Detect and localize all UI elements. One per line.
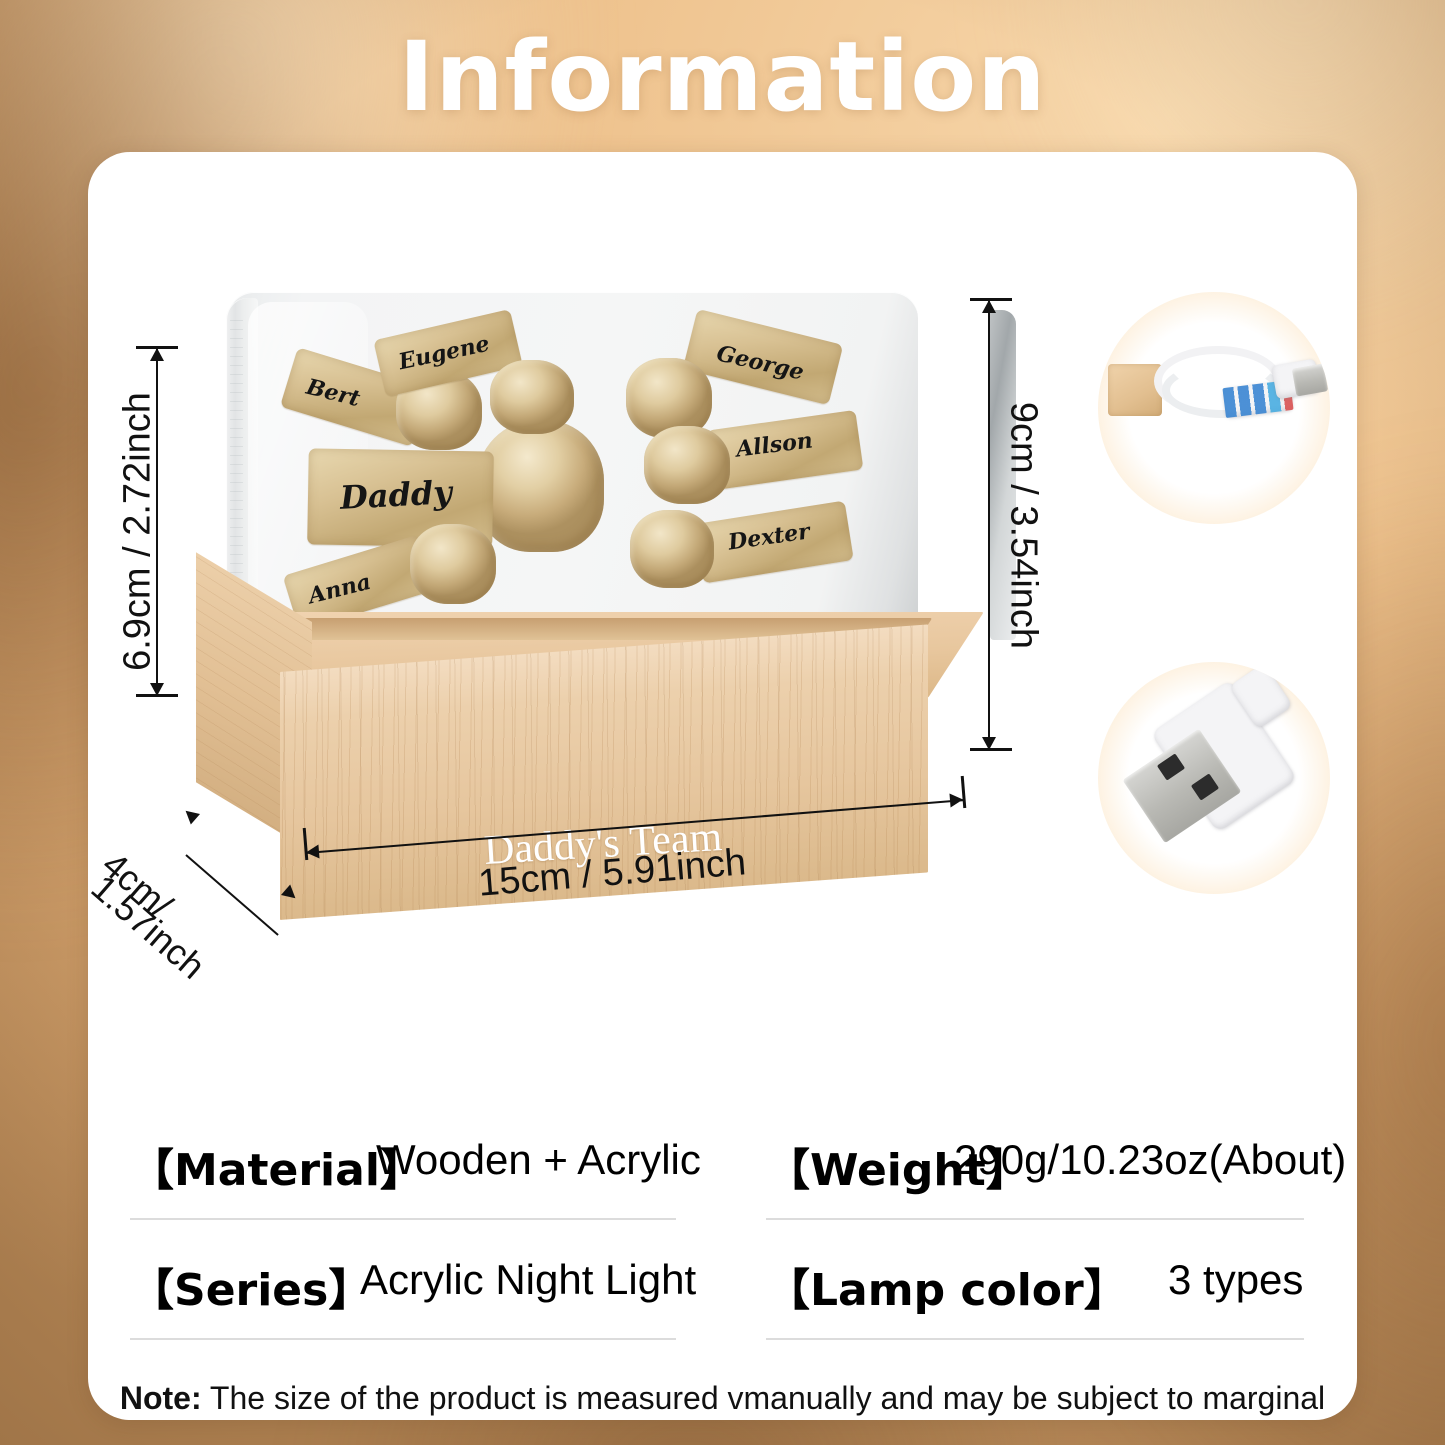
usb-port-badge: USB port [1098, 662, 1330, 894]
wood-connector-icon [1108, 364, 1162, 416]
spec-key-series: 【Series】 [130, 1254, 372, 1318]
daddy-fist [476, 420, 604, 552]
spec-key-lamp-color: 【Lamp color】 [766, 1254, 1128, 1318]
note-prefix: Note: [120, 1380, 202, 1416]
spec-cell-lamp-color: 【Lamp color】 3 types [766, 1232, 1326, 1352]
footer-note: Note: The size of the product is measure… [88, 1380, 1357, 1420]
table-row: 【Series】 Acrylic Night Light 【Lamp color… [88, 1232, 1357, 1352]
spec-cell-series: 【Series】 Acrylic Night Light [130, 1232, 718, 1352]
anna-fist [410, 524, 496, 604]
eugene-fist [490, 360, 574, 434]
dim-right-arrow-top [982, 300, 996, 313]
allson-fist [644, 426, 730, 504]
dexter-fist [630, 510, 714, 588]
dim-left-arrow-top [150, 348, 164, 361]
spec-divider-material [130, 1218, 676, 1220]
power-cord-usb-metal [1292, 363, 1328, 396]
spec-value-material: Wooden + Acrylic [376, 1136, 701, 1184]
info-card: Daddy Bert Eugene Anna George Allson [88, 152, 1357, 1420]
dim-depth-line [185, 854, 278, 936]
spec-divider-series [130, 1338, 676, 1340]
page-title: Information [0, 22, 1445, 132]
table-row: 【Material】 Wooden + Acrylic 【Weight】 290… [88, 1112, 1357, 1232]
dim-left-label: 6.9cm / 2.72inch [117, 372, 160, 692]
dim-right-label: 9cm / 3.54inch [1002, 381, 1045, 671]
dim-width-arrow-left [305, 845, 319, 860]
spec-value-series: Acrylic Night Light [360, 1256, 696, 1304]
spec-divider-weight [766, 1218, 1304, 1220]
dim-width-arrow-right [949, 793, 963, 808]
product-illustration: Daddy Bert Eugene Anna George Allson [88, 152, 1357, 952]
artwork-name-daddy: Daddy [339, 473, 453, 517]
spec-cell-material: 【Material】 Wooden + Acrylic [130, 1112, 718, 1232]
spec-value-weight: 290g/10.23oz(About) [954, 1136, 1346, 1184]
spec-cell-weight: 【Weight】 290g/10.23oz(About) [766, 1112, 1326, 1232]
spec-divider-lamp-color [766, 1338, 1304, 1340]
spec-table: 【Material】 Wooden + Acrylic 【Weight】 290… [88, 1112, 1357, 1352]
dim-right-arrow-bottom [982, 737, 996, 750]
power-cord-badge: Power cord [1098, 292, 1330, 524]
engraved-artwork: Daddy Bert Eugene Anna George Allson [278, 332, 878, 632]
dim-right-line [988, 300, 990, 750]
dim-depth-arrow-top [181, 805, 200, 824]
spec-value-lamp-color: 3 types [1168, 1256, 1303, 1304]
note-text: The size of the product is measured vman… [202, 1380, 1326, 1420]
